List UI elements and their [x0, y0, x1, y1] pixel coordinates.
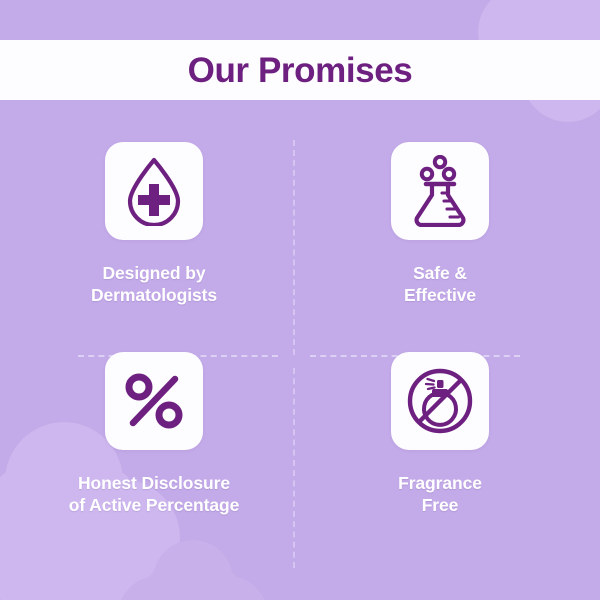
icon-card	[105, 142, 203, 240]
promise-label: Fragrance Free	[398, 472, 482, 517]
header-band: Our Promises	[0, 40, 600, 100]
promise-grid: Designed by Dermatologists	[0, 100, 600, 600]
promise-item-fragrance-free: Fragrance Free	[300, 352, 580, 592]
promise-item-safe-and-effective: Safe & Effective	[300, 142, 580, 382]
no-perfume-icon	[406, 367, 474, 435]
promises-panel: Our Promises Designed by Dermatologists	[0, 0, 600, 600]
droplet-plus-icon	[121, 156, 187, 226]
promise-item-honest-disclosure: Honest Disclosure of Active Percentage	[14, 352, 294, 592]
percent-icon	[123, 371, 185, 431]
promise-item-designed-by-dermatologists: Designed by Dermatologists	[14, 142, 294, 382]
flask-bubbles-icon	[409, 155, 471, 227]
promise-label: Safe & Effective	[404, 262, 476, 307]
promise-label: Honest Disclosure of Active Percentage	[69, 472, 239, 517]
icon-card	[391, 352, 489, 450]
icon-card	[105, 352, 203, 450]
page-title: Our Promises	[188, 53, 413, 88]
promise-label: Designed by Dermatologists	[91, 262, 217, 307]
icon-card	[391, 142, 489, 240]
